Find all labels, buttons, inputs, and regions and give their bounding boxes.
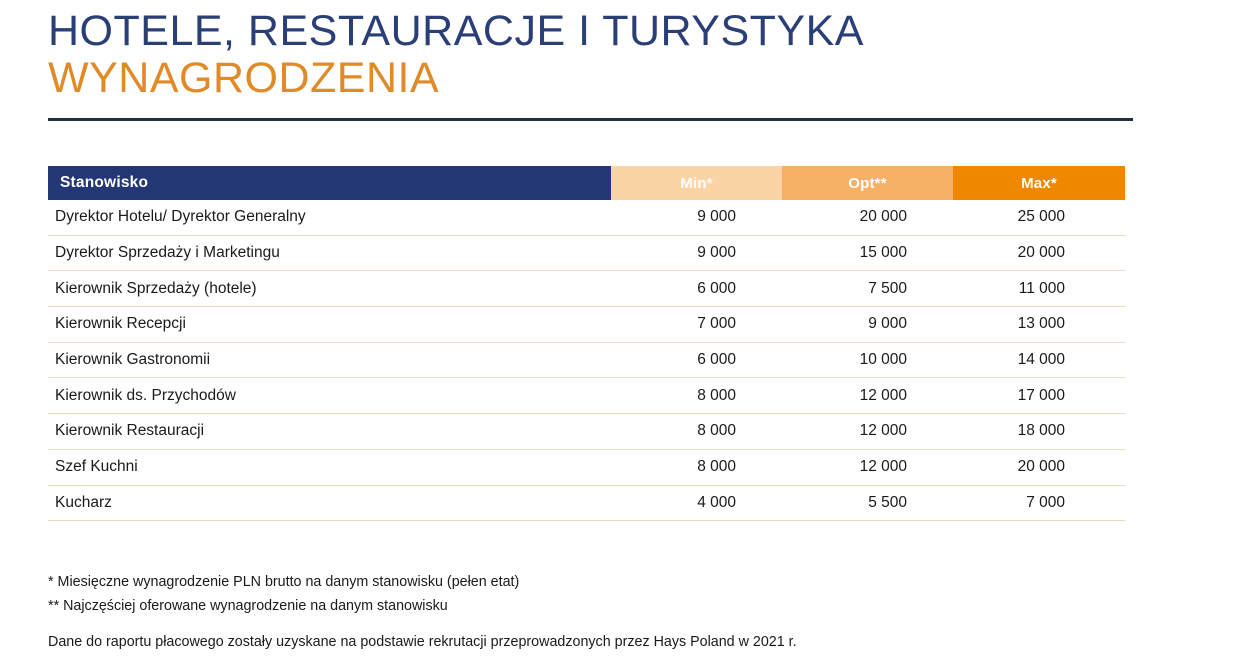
footnote-opt: ** Najczęściej oferowane wynagrodzenie n…: [48, 594, 1133, 618]
cell-position: Kucharz: [48, 494, 611, 512]
title-divider: [48, 118, 1133, 121]
table-header-row: Stanowisko Min* Opt** Max*: [48, 166, 1125, 200]
cell-opt: 9 000: [782, 315, 953, 333]
cell-max: 20 000: [953, 458, 1125, 476]
cell-opt: 20 000: [782, 208, 953, 226]
page-title: HOTELE, RESTAURACJE I TURYSTYKA: [48, 8, 1138, 55]
cell-max: 13 000: [953, 315, 1125, 333]
table-row: Kierownik Restauracji 8 000 12 000 18 00…: [48, 414, 1125, 450]
cell-min: 6 000: [611, 351, 782, 369]
table-row: Kierownik Sprzedaży (hotele) 6 000 7 500…: [48, 271, 1125, 307]
cell-max: 17 000: [953, 387, 1125, 405]
cell-opt: 15 000: [782, 244, 953, 262]
cell-opt: 12 000: [782, 422, 953, 440]
cell-opt: 12 000: [782, 387, 953, 405]
cell-min: 7 000: [611, 315, 782, 333]
source-note: Dane do raportu płacowego zostały uzyska…: [48, 631, 797, 653]
cell-max: 18 000: [953, 422, 1125, 440]
cell-min: 9 000: [611, 244, 782, 262]
footnote-min: * Miesięczne wynagrodzenie PLN brutto na…: [48, 570, 1133, 594]
footnotes: * Miesięczne wynagrodzenie PLN brutto na…: [48, 570, 1133, 618]
cell-max: 14 000: [953, 351, 1125, 369]
cell-opt: 12 000: [782, 458, 953, 476]
cell-position: Dyrektor Sprzedaży i Marketingu: [48, 244, 611, 262]
cell-opt: 7 500: [782, 280, 953, 298]
table-row: Szef Kuchni 8 000 12 000 20 000: [48, 450, 1125, 486]
column-header-max: Max*: [953, 166, 1125, 200]
table-row: Dyrektor Hotelu/ Dyrektor Generalny 9 00…: [48, 200, 1125, 236]
table-row: Kierownik ds. Przychodów 8 000 12 000 17…: [48, 378, 1125, 414]
table-row: Kierownik Recepcji 7 000 9 000 13 000: [48, 307, 1125, 343]
cell-position: Kierownik Restauracji: [48, 422, 611, 440]
table-row: Dyrektor Sprzedaży i Marketingu 9 000 15…: [48, 236, 1125, 272]
page-title-block: HOTELE, RESTAURACJE I TURYSTYKA WYNAGROD…: [48, 8, 1138, 102]
salary-table: Stanowisko Min* Opt** Max* Dyrektor Hote…: [48, 166, 1125, 521]
cell-min: 8 000: [611, 387, 782, 405]
column-header-min: Min*: [611, 166, 782, 200]
cell-position: Kierownik Recepcji: [48, 315, 611, 333]
cell-min: 8 000: [611, 458, 782, 476]
cell-max: 25 000: [953, 208, 1125, 226]
cell-position: Kierownik ds. Przychodów: [48, 387, 611, 405]
salary-report-page: HOTELE, RESTAURACJE I TURYSTYKA WYNAGROD…: [0, 0, 1233, 662]
column-header-opt: Opt**: [782, 166, 953, 200]
table-row: Kucharz 4 000 5 500 7 000: [48, 486, 1125, 522]
table-row: Kierownik Gastronomii 6 000 10 000 14 00…: [48, 343, 1125, 379]
cell-position: Szef Kuchni: [48, 458, 611, 476]
cell-opt: 5 500: [782, 494, 953, 512]
cell-position: Kierownik Gastronomii: [48, 351, 611, 369]
cell-max: 7 000: [953, 494, 1125, 512]
page-subtitle: WYNAGRODZENIA: [48, 55, 1138, 102]
cell-max: 20 000: [953, 244, 1125, 262]
cell-max: 11 000: [953, 280, 1125, 298]
cell-min: 9 000: [611, 208, 782, 226]
cell-min: 6 000: [611, 280, 782, 298]
cell-min: 4 000: [611, 494, 782, 512]
cell-opt: 10 000: [782, 351, 953, 369]
cell-position: Dyrektor Hotelu/ Dyrektor Generalny: [48, 208, 611, 226]
cell-position: Kierownik Sprzedaży (hotele): [48, 280, 611, 298]
cell-min: 8 000: [611, 422, 782, 440]
column-header-position: Stanowisko: [48, 166, 611, 200]
